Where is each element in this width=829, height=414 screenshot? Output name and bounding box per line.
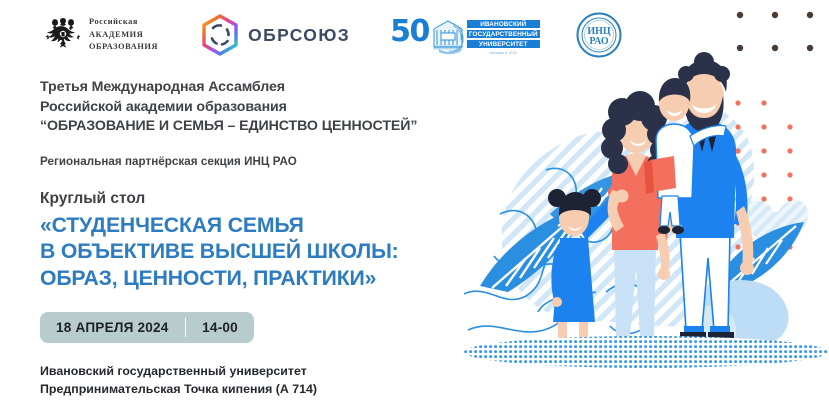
venue-line-2: Предпринимательская Точка кипения (А 714… [40,381,510,399]
logo-rao-label: Российская АКАДЕМИЯ ОБРАЗОВАНИЯ [89,16,158,54]
ivgu-name-block: ИВАНОВСКИЙ ГОСУДАРСТВЕННЫЙ УНИВЕРСИТЕТ о… [467,20,540,56]
ivgu-line-3: УНИВЕРСИТЕТ [467,40,540,49]
poster-canvas: Российская АКАДЕМИЯ ОБРАЗОВАНИЯ [0,0,829,414]
title-line-3: ОБРАЗ, ЦЕННОСТИ, ПРАКТИКИ» [40,266,510,293]
page-title: «СТУДЕНЧЕСКАЯ СЕМЬЯ В ОБЪЕКТИВЕ ВЫСШЕЙ Ш… [40,213,510,293]
logo-ivanovo-state-university: 50 ИВАНОВСКИЙ ГОСУДАРСТВЕННЫЙ УНИВЕРСИТЕ… [390,15,540,56]
logo-obrsoyuz-label: ОБРСОЮЗ [248,25,350,46]
ivgu-line-2: ГОСУДАРСТВЕННЫЙ [467,30,540,39]
logo-obrsoyuz: ОБРСОЮЗ [200,14,350,56]
venue-line-1: Ивановский государственный университет [40,363,510,381]
anniversary-number: 50 [390,15,429,49]
logo-strip: Российская АКАДЕМИЯ ОБРАЗОВАНИЯ [44,8,622,62]
svg-text:РАО: РАО [589,36,609,47]
event-time: 14-00 [202,320,238,335]
logo-russian-academy-of-education: Российская АКАДЕМИЯ ОБРАЗОВАНИЯ [44,15,158,55]
assembly-heading: Третья Международная Ассамблея Российско… [40,78,510,137]
venue-block: Ивановский государственный университет П… [40,363,510,398]
poster-content: Третья Международная Ассамблея Российско… [40,78,510,398]
ivgu-building-icon [431,17,465,55]
double-headed-eagle-icon [44,15,82,55]
badge-divider [185,318,187,337]
event-date: 18 АПРЕЛЯ 2024 [56,320,169,335]
assembly-line-1: Третья Международная Ассамблея [40,78,510,98]
family-illustration [464,0,829,414]
hexagon-icon [200,14,240,56]
logo-inc-rao: ИНЦ РАО [576,12,622,58]
assembly-line-2: Российской академии образования [40,98,510,118]
title-line-2: В ОБЪЕКТИВЕ ВЫСШЕЙ ШКОЛЫ: [40,239,510,266]
section-label: Региональная партнёрская секция ИНЦ РАО [40,155,510,168]
assembly-line-3: “ОБРАЗОВАНИЕ И СЕМЬЯ – ЕДИНСТВО ЦЕННОСТЕ… [40,117,510,137]
ivgu-founded-label: основан в 1918 [467,51,540,55]
ivgu-line-1: ИВАНОВСКИЙ [467,20,540,29]
event-kind-label: Круглый стол [40,190,510,208]
circular-seal-icon: ИНЦ РАО [576,12,622,58]
date-time-badge: 18 АПРЕЛЯ 2024 14-00 [40,312,254,343]
title-line-1: «СТУДЕНЧЕСКАЯ СЕМЬЯ [40,213,510,240]
